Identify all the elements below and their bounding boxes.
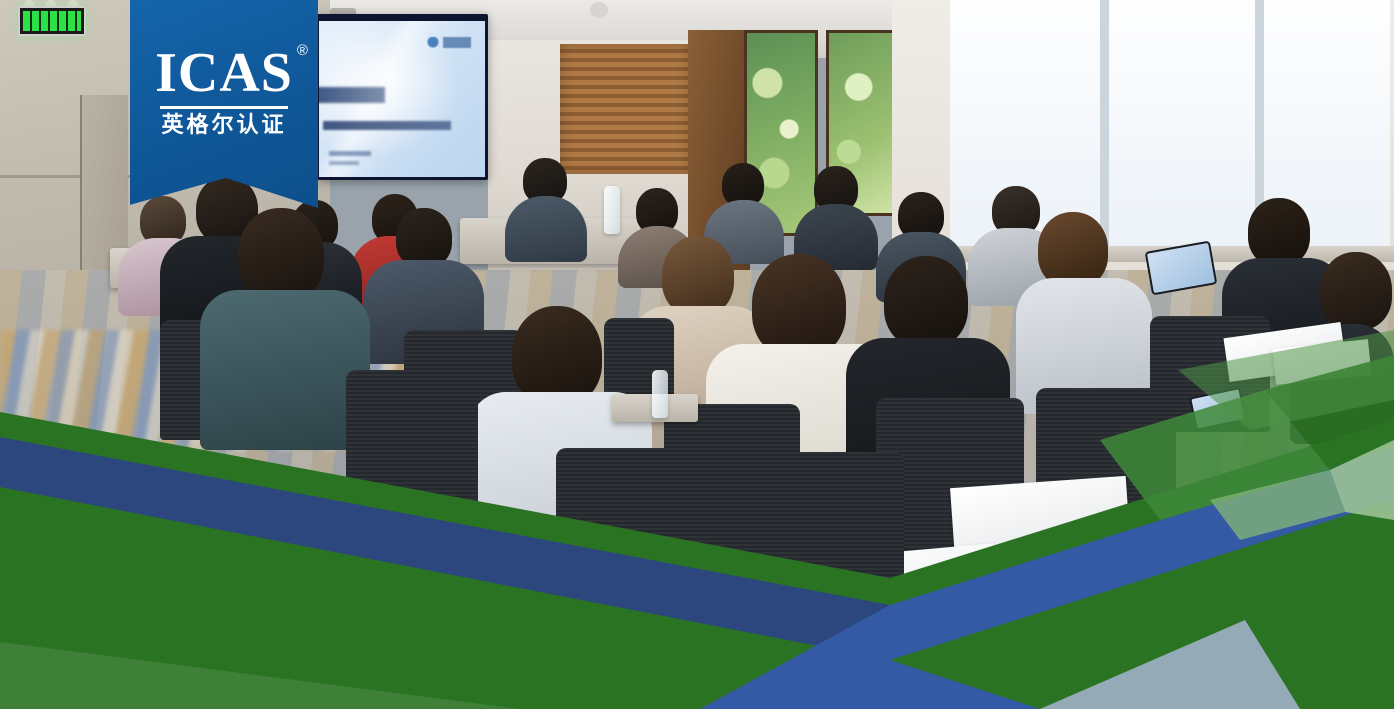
chair-back bbox=[556, 448, 712, 598]
chair-back bbox=[346, 370, 478, 506]
brand-divider bbox=[160, 106, 288, 109]
banner-canvas: ICAS ® 英格尔认证 bbox=[0, 0, 1394, 709]
attendee-head bbox=[1320, 252, 1392, 330]
attendee-body bbox=[505, 196, 587, 262]
attendee-head bbox=[752, 254, 846, 358]
attendee-head bbox=[1248, 198, 1310, 266]
registered-trademark-icon: ® bbox=[297, 43, 309, 58]
brand-badge: ICAS ® 英格尔认证 bbox=[130, 0, 318, 208]
brand-wordmark: ICAS ® bbox=[155, 45, 293, 101]
attendee-body bbox=[200, 290, 370, 450]
water-bottle-front bbox=[604, 186, 620, 234]
brand-wordmark-text: ICAS bbox=[155, 42, 293, 104]
attendee-head bbox=[238, 208, 324, 302]
water-bottle bbox=[652, 370, 668, 418]
attendee-head bbox=[512, 306, 602, 406]
brand-chinese-name: 英格尔认证 bbox=[155, 115, 293, 137]
chair-back bbox=[744, 452, 904, 608]
attendee-head bbox=[884, 256, 968, 348]
attendee-head bbox=[1038, 212, 1108, 288]
attendee-head bbox=[662, 236, 734, 316]
attendee-head bbox=[396, 208, 452, 268]
tablet-device bbox=[1145, 241, 1218, 296]
notes-paper bbox=[950, 476, 1130, 550]
